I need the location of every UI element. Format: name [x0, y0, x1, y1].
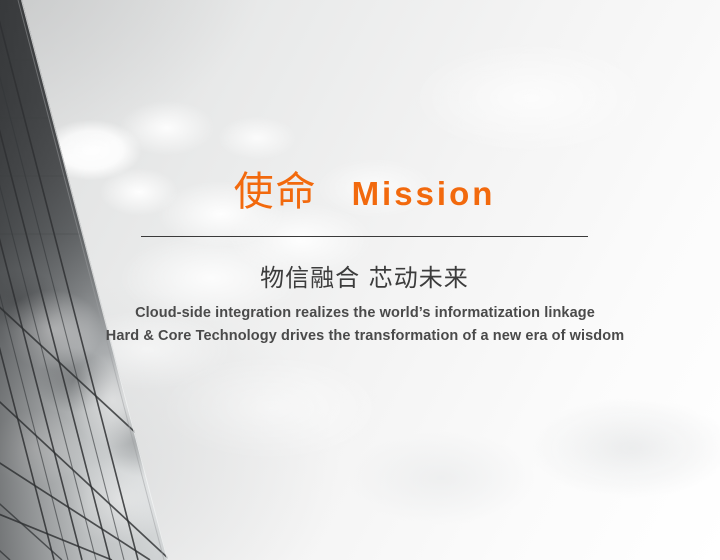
description-line-2: Hard & Core Technology drives the transf…	[60, 325, 670, 348]
subtitle: 物信融合 芯动未来	[141, 258, 588, 293]
page-title-en: Mission	[352, 177, 496, 210]
description-line-1: Cloud-side integration realizes the worl…	[60, 302, 670, 325]
description-block: Cloud-side integration realizes the worl…	[60, 302, 670, 348]
title-divider	[141, 236, 588, 237]
title-row: 使命 Mission	[141, 172, 588, 212]
mission-slide: 使命 Mission 物信融合 芯动未来 Cloud-side integrat…	[0, 0, 720, 560]
page-title-cn: 使命	[234, 172, 318, 212]
slide-content: 使命 Mission 物信融合 芯动未来 Cloud-side integrat…	[0, 0, 720, 560]
